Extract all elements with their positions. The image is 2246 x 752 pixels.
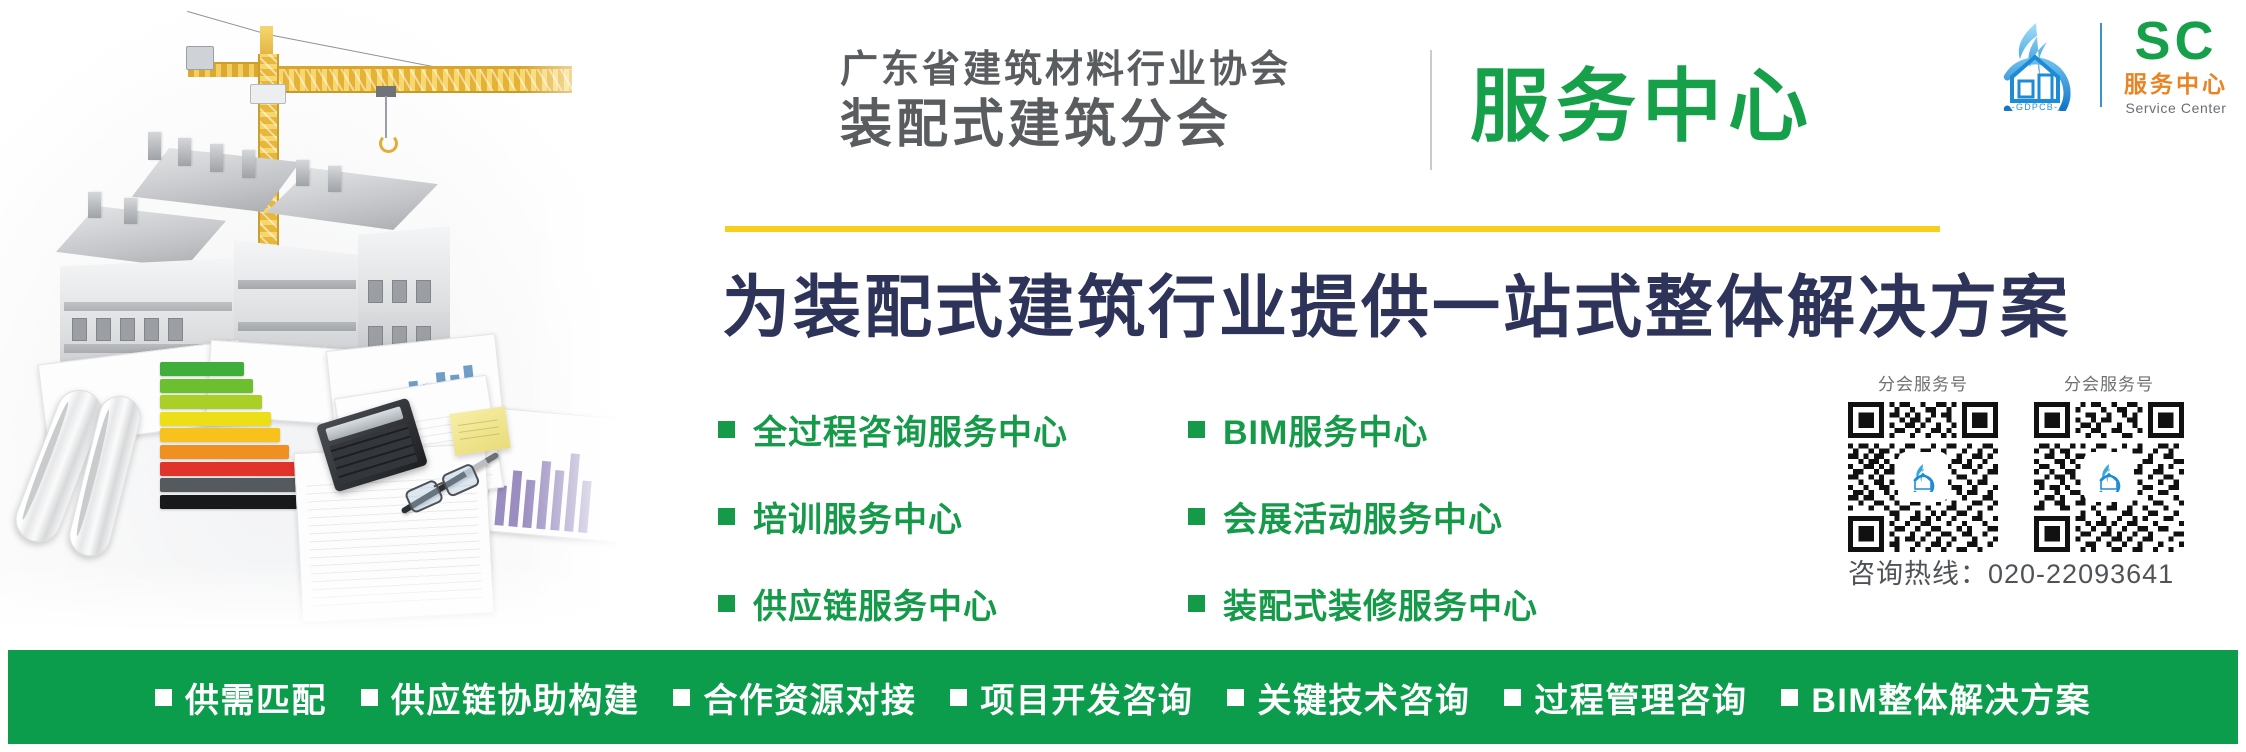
service-label: 供应链服务中心	[753, 579, 998, 628]
footer-tag-bar: 供需匹配 供应链协助构建 合作资源对接 项目开发咨询 关键技术咨询 过程管理咨询…	[8, 650, 2238, 744]
service-item-3[interactable]: 会展活动服务中心	[1188, 492, 1658, 541]
sticky-note	[449, 406, 510, 455]
bullet-square-icon	[1504, 689, 1521, 706]
qr-code-block-1: 分会服务号	[2034, 370, 2184, 552]
footer-item-label: BIM整体解决方案	[1811, 673, 2091, 722]
yellow-divider	[725, 226, 1940, 232]
title-divider	[1430, 50, 1432, 170]
bullet-square-icon	[718, 595, 735, 612]
bullet-square-icon	[1188, 421, 1205, 438]
sc-chinese-label: 服务中心	[2124, 73, 2228, 96]
sc-english-label: Service Center	[2126, 101, 2227, 115]
sc-abbreviation: SC	[2134, 14, 2217, 68]
bullet-square-icon	[1188, 508, 1205, 525]
bullet-square-icon	[1781, 689, 1798, 706]
bullet-square-icon	[361, 689, 378, 706]
bullet-square-icon	[718, 508, 735, 525]
bullet-square-icon	[1227, 689, 1244, 706]
qr-center-logo-icon	[1900, 454, 1946, 500]
association-line-1: 广东省建筑材料行业协会	[840, 48, 1480, 93]
qr-center-logo-icon	[2086, 454, 2132, 500]
qr-code-image[interactable]	[1848, 402, 1998, 552]
service-list: 全过程咨询服务中心 BIM服务中心 培训服务中心 会展活动服务中心 供应链服务中…	[718, 405, 1818, 628]
hotline-text: 咨询热线：020-22093641	[1848, 552, 2174, 591]
footer-item-label: 供需匹配	[185, 673, 327, 722]
qr-code-group: 分会服务号	[1848, 370, 2184, 552]
footer-item-6[interactable]: BIM整体解决方案	[1764, 673, 2108, 722]
footer-item-5[interactable]: 过程管理咨询	[1487, 673, 1764, 722]
bullet-square-icon	[673, 689, 690, 706]
bullet-square-icon	[155, 689, 172, 706]
service-label: 全过程咨询服务中心	[753, 405, 1068, 454]
association-name: 广东省建筑材料行业协会 装配式建筑分会	[840, 48, 1480, 155]
footer-item-label: 供应链协助构建	[391, 673, 640, 722]
brand-logo: -GDPCB- SC 服务中心 Service Center	[1992, 14, 2228, 115]
qr-caption: 分会服务号	[1848, 370, 1998, 395]
bullet-square-icon	[718, 421, 735, 438]
promo-banner: 广东省建筑材料行业协会 装配式建筑分会 服务中心 为装配式建筑行业提供一站式整体…	[0, 0, 2246, 752]
association-line-2: 装配式建筑分会	[840, 95, 1480, 155]
footer-item-3[interactable]: 项目开发咨询	[933, 673, 1210, 722]
bullet-square-icon	[1188, 595, 1205, 612]
footer-item-0[interactable]: 供需匹配	[138, 673, 344, 722]
footer-item-label: 过程管理咨询	[1534, 673, 1747, 722]
bullet-square-icon	[950, 689, 967, 706]
footer-item-2[interactable]: 合作资源对接	[656, 673, 933, 722]
service-center-title: 服务中心	[1470, 42, 1814, 158]
gdpcb-mark-text: -GDPCB-	[2012, 102, 2058, 111]
service-label: 培训服务中心	[753, 492, 963, 541]
qr-code-image[interactable]	[2034, 402, 2184, 552]
qr-caption: 分会服务号	[2034, 370, 2184, 395]
service-label: 装配式装修服务中心	[1223, 579, 1538, 628]
hero-illustration	[0, 0, 660, 650]
service-label: 会展活动服务中心	[1223, 492, 1503, 541]
service-item-1[interactable]: BIM服务中心	[1188, 405, 1658, 454]
qr-code-block-0: 分会服务号	[1848, 370, 1998, 552]
service-item-2[interactable]: 培训服务中心	[718, 492, 1188, 541]
energy-rating-chart	[160, 362, 310, 512]
page-headline: 为装配式建筑行业提供一站式整体解决方案	[722, 252, 2071, 351]
service-label: BIM服务中心	[1223, 405, 1428, 454]
footer-item-label: 关键技术咨询	[1257, 673, 1470, 722]
logo-divider	[2100, 23, 2102, 107]
gdpcb-house-icon: -GDPCB-	[1992, 19, 2078, 111]
service-item-5[interactable]: 装配式装修服务中心	[1188, 579, 1658, 628]
footer-item-1[interactable]: 供应链协助构建	[344, 673, 657, 722]
service-item-0[interactable]: 全过程咨询服务中心	[718, 405, 1188, 454]
footer-item-label: 项目开发咨询	[980, 673, 1193, 722]
service-item-4[interactable]: 供应链服务中心	[718, 579, 1188, 628]
footer-item-label: 合作资源对接	[703, 673, 916, 722]
footer-item-4[interactable]: 关键技术咨询	[1210, 673, 1487, 722]
